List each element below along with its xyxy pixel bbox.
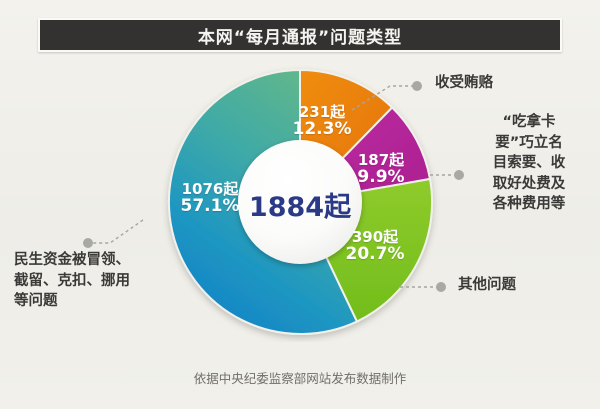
donut-chart: 231起 12.3% 187起 9.9% 390起 20.7% 1076起 57…: [0, 0, 600, 409]
callout-extort-line-5: 各种费用等: [470, 194, 588, 215]
donut-chart-svg: [160, 62, 440, 342]
infographic-root: 本网“每月通报”问题类型: [0, 0, 600, 409]
callout-other: 其他问题: [458, 275, 598, 296]
leader-dot-welfare: [83, 238, 93, 248]
callout-welfare: 民生资金被冒领、 截留、克扣、挪用 等问题: [14, 250, 164, 312]
callout-bribe-line-1: 收受贿赂: [435, 73, 585, 94]
callout-bribe: 收受贿赂: [435, 73, 585, 94]
callout-extort-line-3: 目索要、收: [470, 153, 588, 174]
leader-dot-extort: [454, 170, 464, 180]
callout-extort-line-2: 要”巧立名: [470, 133, 588, 154]
callout-extort-line-4: 取好处费及: [470, 174, 588, 195]
callout-other-line-1: 其他问题: [458, 275, 598, 296]
callout-extort-line-1: “吃拿卡: [470, 112, 588, 133]
donut-center-hub: [238, 140, 362, 264]
callout-welfare-line-1: 民生资金被冒领、: [14, 250, 164, 271]
callout-welfare-line-2: 截留、克扣、挪用: [14, 271, 164, 292]
callout-welfare-line-3: 等问题: [14, 291, 164, 312]
source-note: 依据中央纪委监察部网站发布数据制作: [0, 368, 600, 387]
callout-extort: “吃拿卡 要”巧立名 目索要、收 取好处费及 各种费用等: [470, 112, 588, 215]
leader-line-welfare: [92, 220, 143, 243]
